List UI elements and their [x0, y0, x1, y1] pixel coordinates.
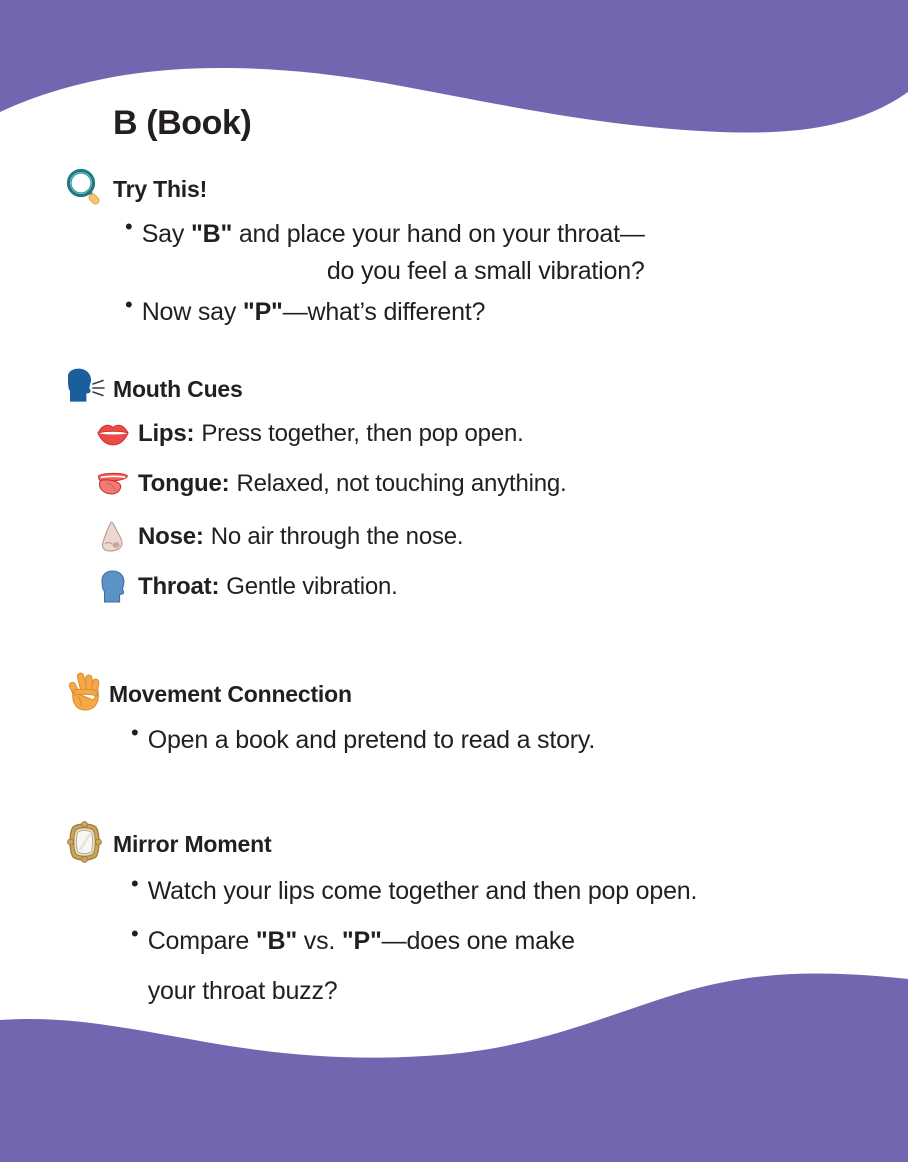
section-heading-mirror-moment: Mirror Moment	[64, 821, 271, 868]
bullet-glyph: •	[131, 923, 139, 945]
bullet-text: Watch your lips come together and then p…	[148, 873, 698, 910]
bullet-text-line2: do you feel a small vibration?	[142, 253, 645, 290]
lips-icon	[96, 421, 130, 447]
bullet-text-part: Now say	[142, 298, 243, 326]
bullet-text-bold: "B"	[256, 927, 297, 955]
bullet-text-part: —does one make	[382, 927, 575, 955]
section-heading-movement-connection: Movement Connection	[62, 670, 352, 719]
cue-name-tongue: Tongue:	[138, 470, 229, 498]
worksheet-page: B (Book) Try This! • Say "B" and place y…	[0, 0, 908, 1162]
cue-row-lips: Lips: Press together, then pop open.	[96, 420, 524, 448]
magnifying-glass-icon	[62, 166, 106, 213]
bullet-glyph: •	[131, 722, 139, 744]
page-title: B (Book)	[113, 104, 251, 143]
bullet-text: Open a book and pretend to read a story.	[148, 722, 595, 759]
bullet-glyph: •	[125, 216, 133, 238]
cue-row-tongue: Tongue: Relaxed, not touching anything.	[96, 470, 567, 498]
cue-name-lips: Lips:	[138, 420, 194, 448]
bullet-text-line2: your throat buzz?	[148, 973, 575, 1010]
bullet-text-bold: "B"	[191, 220, 232, 248]
cue-desc-lips: Press together, then pop open.	[201, 420, 523, 448]
bullet-glyph: •	[131, 873, 139, 895]
cue-desc-nose: No air through the nose.	[211, 523, 464, 551]
bullet-item: • Open a book and pretend to read a stor…	[131, 722, 831, 759]
bullet-text-part: —what’s different?	[283, 298, 486, 326]
cue-desc-tongue: Relaxed, not touching anything.	[236, 470, 566, 498]
cue-row-nose: Nose: No air through the nose.	[96, 520, 463, 554]
cue-row-throat: Throat: Gentle vibration.	[96, 570, 398, 604]
bullet-text-part: vs.	[297, 927, 342, 955]
section-label-mirror-moment: Mirror Moment	[113, 831, 271, 858]
cue-desc-throat: Gentle vibration.	[226, 573, 397, 601]
bullet-text: Compare "B" vs. "P"—does one make your t…	[148, 923, 575, 1010]
section-label-mouth-cues: Mouth Cues	[113, 376, 243, 403]
section-label-try-this: Try This!	[113, 176, 207, 203]
bullet-text-part: Say	[142, 220, 191, 248]
section-heading-try-this: Try This!	[62, 166, 207, 213]
speaking-head-icon	[62, 368, 108, 411]
bullet-item: • Say "B" and place your hand on your th…	[125, 216, 785, 290]
cue-name-throat: Throat:	[138, 573, 219, 601]
bullet-item: • Watch your lips come together and then…	[131, 873, 891, 910]
bullet-text: Now say "P"—what’s different?	[142, 294, 486, 331]
section-heading-mouth-cues: Mouth Cues	[62, 368, 243, 411]
mirror-icon	[64, 821, 106, 868]
bullet-text: Say "B" and place your hand on your thro…	[142, 216, 645, 290]
bullet-glyph: •	[125, 294, 133, 316]
bullet-text-part: Compare	[148, 927, 256, 955]
bullet-item: • Compare "B" vs. "P"—does one make your…	[131, 923, 891, 1010]
bullet-item: • Now say "P"—what’s different?	[125, 294, 785, 331]
raised-hand-icon	[62, 670, 106, 719]
section-label-movement-connection: Movement Connection	[109, 681, 352, 708]
nose-icon	[96, 520, 130, 554]
bullet-text-bold: "P"	[342, 927, 382, 955]
bullet-text-part: and place your hand on your throat—	[232, 220, 645, 248]
throat-icon	[96, 570, 130, 604]
bullet-text-bold: "P"	[243, 298, 283, 326]
tongue-icon	[96, 470, 130, 498]
cue-name-nose: Nose:	[138, 523, 204, 551]
